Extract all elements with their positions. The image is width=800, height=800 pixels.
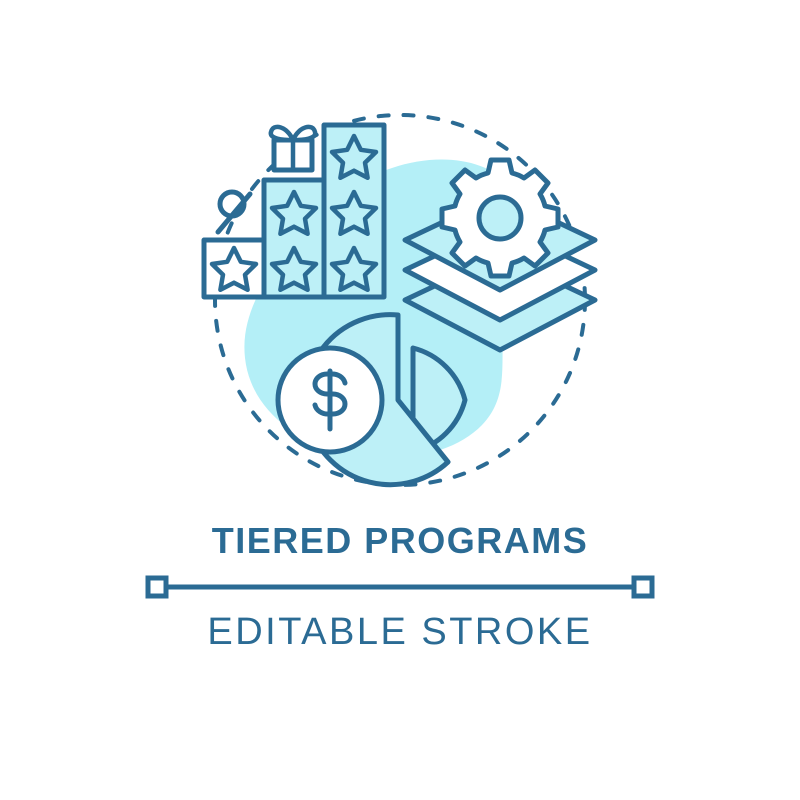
page-subtitle: EDITABLE STROKE bbox=[0, 607, 800, 657]
illustration-svg bbox=[0, 0, 800, 520]
gear-icon bbox=[442, 160, 558, 276]
percent-badge bbox=[218, 192, 250, 232]
bar-chart-tiers bbox=[204, 125, 384, 297]
bar-medium bbox=[264, 180, 324, 297]
gift-box-icon bbox=[271, 127, 315, 170]
page-title: TIERED PROGRAMS bbox=[0, 515, 800, 567]
divider-svg bbox=[0, 567, 800, 607]
divider-left-handle[interactable] bbox=[148, 578, 166, 596]
editable-stroke-divider bbox=[0, 567, 800, 607]
caption-block: TIERED PROGRAMS EDITABLE STROKE bbox=[0, 515, 800, 657]
divider-right-handle[interactable] bbox=[634, 578, 652, 596]
icon-canvas: TIERED PROGRAMS EDITABLE STROKE bbox=[0, 0, 800, 800]
